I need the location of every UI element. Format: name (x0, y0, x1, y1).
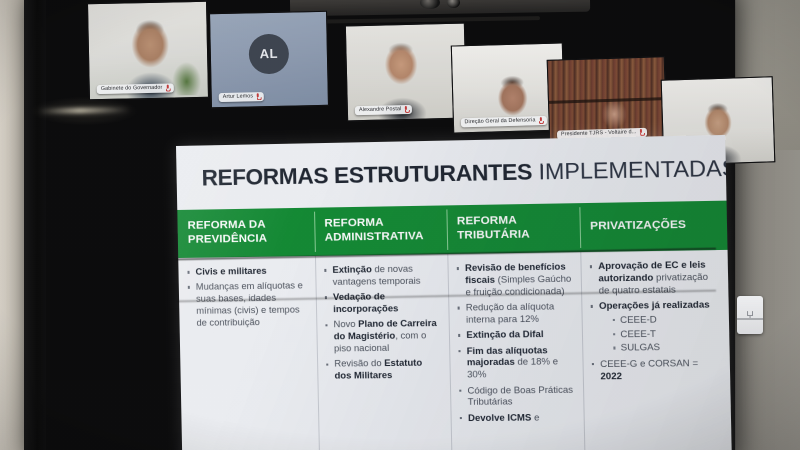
microphone-muted-icon (538, 117, 542, 123)
slide-title-light: IMPLEMENTADAS (532, 155, 732, 184)
list-item: Redução da alíquota interna para 12% (458, 301, 574, 327)
participant-name-badge: Gabinete do Governador (97, 83, 174, 94)
presentation-slide: REFORMAS ESTRUTURANTES IMPLEMENTADAS REF… (176, 135, 732, 450)
bullet-list: Revisão de benefícios fiscais (Simples G… (457, 261, 576, 424)
list-item: Operações já realizadas CEEE-D CEEE-T SU… (591, 299, 722, 355)
participant-name: Gabinete do Governador (101, 84, 163, 93)
list-item: SULGAS (613, 342, 721, 355)
sub-bullet-list: CEEE-D CEEE-T SULGAS (599, 314, 721, 355)
list-item: Devolve ICMS e (460, 412, 576, 425)
bullet-list: Extinção de novas vantagens temporais Ve… (324, 263, 441, 383)
participant-tile[interactable]: Gabinete do Governador (87, 1, 209, 100)
column-header-tributaria: REFORMA TRIBUTÁRIA (446, 203, 580, 254)
participant-tile[interactable]: Alexandre Postal (345, 23, 467, 122)
list-item: Extinção de novas vantagens temporais (324, 263, 440, 289)
list-item: Civis e militares (187, 265, 307, 279)
list-item: Código de Boas Práticas Tributárias (459, 384, 575, 409)
list-item: Extinção da Difal (458, 329, 574, 342)
microphone-muted-icon (256, 94, 260, 100)
column-header-privatizacoes: PRIVATIZAÇÕES (579, 201, 727, 252)
participant-tile[interactable]: AL Artur Lemos (209, 11, 329, 108)
list-item: CEEE-G e CORSAN = 2022 (592, 357, 722, 383)
column-administrativa: Extinção de novas vantagens temporais Ve… (315, 254, 452, 450)
slide-title: REFORMAS ESTRUTURANTES IMPLEMENTADAS (201, 155, 731, 191)
column-header-previdencia: REFORMA DA PREVIDÊNCIA (177, 208, 315, 258)
list-item: Mudanças em alíquotas e suas bases, idad… (188, 281, 309, 330)
list-item: CEEE-T (613, 328, 721, 341)
participant-name-badge: Artur Lemos (219, 92, 265, 102)
list-item: Fim das alíquotas majoradas de 18% e 30% (458, 344, 574, 381)
participant-name: Alexandre Postal (359, 106, 402, 114)
column-previdencia: Civis e militares Mudanças em alíquotas … (178, 256, 319, 450)
bullet-list: Aprovação de EC e leis autorizando priva… (590, 259, 722, 383)
wall-fixture-seam (737, 318, 763, 320)
slide-title-bold: REFORMAS ESTRUTURANTES (201, 159, 532, 190)
column-tributaria: Revisão de benefícios fiscais (Simples G… (447, 252, 584, 450)
microphone-muted-icon (639, 129, 643, 135)
microphone-muted-icon (404, 106, 408, 112)
participant-tile[interactable]: Presidente TJRS - Voltaire d... (547, 56, 668, 146)
column-header-administrativa: REFORMA ADMINISTRATIVA (314, 205, 447, 256)
conference-room-photo: Gabinete do Governador AL Artur Lemos Al… (0, 0, 800, 450)
list-item: Novo Plano de Carreira do Magistério, co… (325, 318, 441, 355)
list-item: CEEE-D (613, 314, 721, 327)
wall-fixture-glyph-icon: ⑂ (737, 296, 763, 334)
participant-name-badge: Alexandre Postal (355, 105, 413, 116)
background-plant (171, 61, 202, 96)
slide-columns: Civis e militares Mudanças em alíquotas … (178, 250, 732, 450)
list-item: Revisão do Estatuto dos Militares (326, 358, 442, 383)
microphone-muted-icon (165, 85, 169, 91)
participant-name: Artur Lemos (223, 93, 254, 101)
column-privatizacoes: Aprovação de EC e leis autorizando priva… (580, 250, 732, 450)
participant-name: Direção Geral da Defensoria (464, 117, 535, 126)
